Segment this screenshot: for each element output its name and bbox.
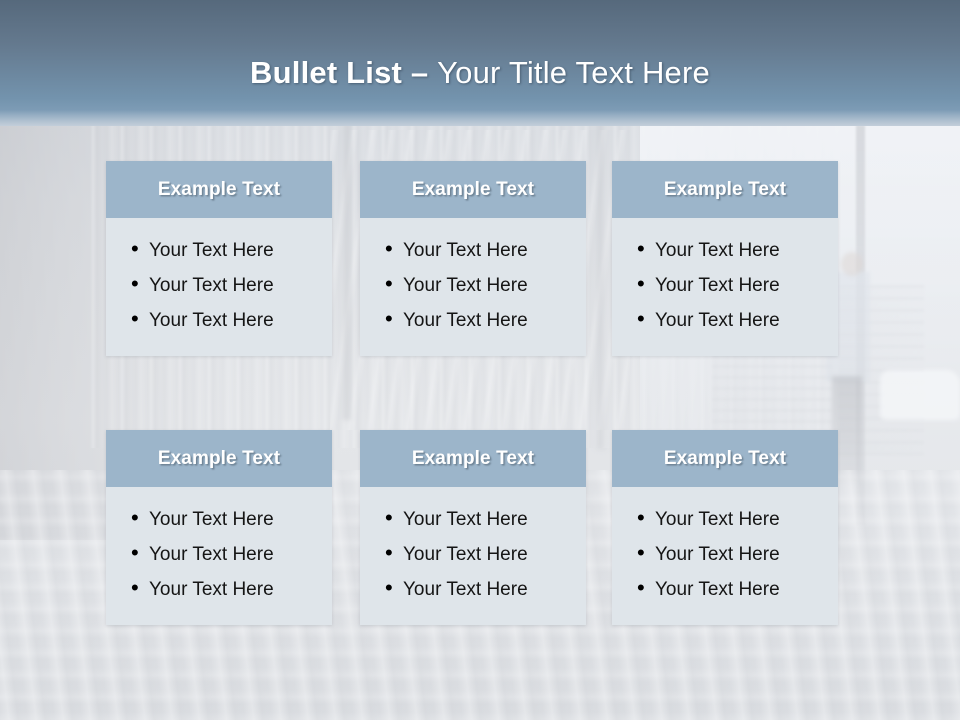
slide-canvas: Bullet List – Your Title Text Here Examp… <box>0 0 960 720</box>
list-item[interactable]: • Your Text Here <box>385 266 586 301</box>
list-item[interactable]: • Your Text Here <box>131 266 332 301</box>
list-item[interactable]: • Your Text Here <box>131 301 332 336</box>
list-item[interactable]: • Your Text Here <box>637 570 838 605</box>
page-title-bold: Bullet List – <box>250 55 437 90</box>
bullet-card-5-list: • Your Text Here • Your Text Here • Your… <box>360 500 586 605</box>
bullet-dot-icon: • <box>385 535 403 570</box>
bullet-card-2-heading: Example Text <box>412 179 534 201</box>
page-title-light: Your Title Text Here <box>437 55 710 90</box>
bullet-card-3-list: • Your Text Here • Your Text Here • Your… <box>612 231 838 336</box>
bullet-card-2-list: • Your Text Here • Your Text Here • Your… <box>360 231 586 336</box>
list-item-label: Your Text Here <box>655 537 780 572</box>
bullet-card-1-heading: Example Text <box>158 179 280 201</box>
bullet-dot-icon: • <box>385 266 403 301</box>
list-item-label: Your Text Here <box>403 268 528 303</box>
list-item-label: Your Text Here <box>403 537 528 572</box>
bullet-card-4-heading: Example Text <box>158 448 280 470</box>
bullet-card-2[interactable]: Example Text • Your Text Here • Your Tex… <box>360 161 586 356</box>
list-item[interactable]: • Your Text Here <box>131 231 332 266</box>
bullet-dot-icon: • <box>637 570 655 605</box>
list-item-label: Your Text Here <box>403 303 528 338</box>
background-lamppost <box>856 125 865 525</box>
bullet-card-1[interactable]: Example Text • Your Text Here • Your Tex… <box>106 161 332 356</box>
bullet-card-4-body: • Your Text Here • Your Text Here • Your… <box>106 487 332 625</box>
bullet-card-4-header: Example Text <box>106 430 332 487</box>
background-wall-seam <box>340 120 354 420</box>
bullet-card-2-body: • Your Text Here • Your Text Here • Your… <box>360 218 586 356</box>
bullet-card-5-heading: Example Text <box>412 448 534 470</box>
bullet-dot-icon: • <box>385 231 403 266</box>
bullet-card-3-heading: Example Text <box>664 179 786 201</box>
list-item[interactable]: • Your Text Here <box>637 231 838 266</box>
bullet-dot-icon: • <box>637 500 655 535</box>
bullet-card-6-header: Example Text <box>612 430 838 487</box>
list-item-label: Your Text Here <box>403 502 528 537</box>
bullet-card-1-body: • Your Text Here • Your Text Here • Your… <box>106 218 332 356</box>
list-item-label: Your Text Here <box>403 572 528 607</box>
bullet-dot-icon: • <box>637 231 655 266</box>
bullet-card-5-body: • Your Text Here • Your Text Here • Your… <box>360 487 586 625</box>
bullet-card-3-body: • Your Text Here • Your Text Here • Your… <box>612 218 838 356</box>
list-item[interactable]: • Your Text Here <box>637 301 838 336</box>
background-building-far <box>838 285 924 455</box>
bullet-card-6[interactable]: Example Text • Your Text Here • Your Tex… <box>612 430 838 625</box>
list-item[interactable]: • Your Text Here <box>385 535 586 570</box>
list-item[interactable]: • Your Text Here <box>637 535 838 570</box>
background-wall-seam-right <box>592 120 610 450</box>
list-item-label: Your Text Here <box>655 268 780 303</box>
list-item[interactable]: • Your Text Here <box>637 266 838 301</box>
bullet-card-4[interactable]: Example Text • Your Text Here • Your Tex… <box>106 430 332 625</box>
bullet-dot-icon: • <box>131 266 149 301</box>
bullet-card-5[interactable]: Example Text • Your Text Here • Your Tex… <box>360 430 586 625</box>
bullet-dot-icon: • <box>385 570 403 605</box>
list-item-label: Your Text Here <box>655 572 780 607</box>
list-item[interactable]: • Your Text Here <box>385 500 586 535</box>
bullet-card-4-list: • Your Text Here • Your Text Here • Your… <box>106 500 332 605</box>
list-item[interactable]: • Your Text Here <box>385 301 586 336</box>
bullet-dot-icon: • <box>637 266 655 301</box>
list-item[interactable]: • Your Text Here <box>131 500 332 535</box>
bullet-dot-icon: • <box>131 500 149 535</box>
list-item-label: Your Text Here <box>149 572 274 607</box>
bullet-dot-icon: • <box>637 535 655 570</box>
list-item[interactable]: • Your Text Here <box>385 570 586 605</box>
list-item[interactable]: • Your Text Here <box>131 535 332 570</box>
bullet-card-6-body: • Your Text Here • Your Text Here • Your… <box>612 487 838 625</box>
list-item-label: Your Text Here <box>655 233 780 268</box>
bullet-card-5-header: Example Text <box>360 430 586 487</box>
list-item[interactable]: • Your Text Here <box>385 231 586 266</box>
bullet-dot-icon: • <box>131 301 149 336</box>
bullet-dot-icon: • <box>637 301 655 336</box>
bullet-card-3-header: Example Text <box>612 161 838 218</box>
title-banner: Bullet List – Your Title Text Here <box>0 0 960 126</box>
bullet-dot-icon: • <box>131 535 149 570</box>
list-item-label: Your Text Here <box>655 303 780 338</box>
list-item[interactable]: • Your Text Here <box>131 570 332 605</box>
background-person-head <box>841 252 863 276</box>
bullet-card-1-list: • Your Text Here • Your Text Here • Your… <box>106 231 332 336</box>
list-item-label: Your Text Here <box>149 268 274 303</box>
bullet-card-3[interactable]: Example Text • Your Text Here • Your Tex… <box>612 161 838 356</box>
bullet-card-2-header: Example Text <box>360 161 586 218</box>
bullet-card-6-heading: Example Text <box>664 448 786 470</box>
bullet-dot-icon: • <box>131 570 149 605</box>
bullet-card-6-list: • Your Text Here • Your Text Here • Your… <box>612 500 838 605</box>
background-parked-car <box>880 370 960 420</box>
bullet-dot-icon: • <box>385 301 403 336</box>
list-item-label: Your Text Here <box>403 233 528 268</box>
list-item-label: Your Text Here <box>149 502 274 537</box>
list-item[interactable]: • Your Text Here <box>637 500 838 535</box>
list-item-label: Your Text Here <box>655 502 780 537</box>
bullet-dot-icon: • <box>385 500 403 535</box>
list-item-label: Your Text Here <box>149 233 274 268</box>
list-item-label: Your Text Here <box>149 537 274 572</box>
list-item-label: Your Text Here <box>149 303 274 338</box>
bullet-card-1-header: Example Text <box>106 161 332 218</box>
page-title: Bullet List – Your Title Text Here <box>0 52 960 94</box>
bullet-dot-icon: • <box>131 231 149 266</box>
